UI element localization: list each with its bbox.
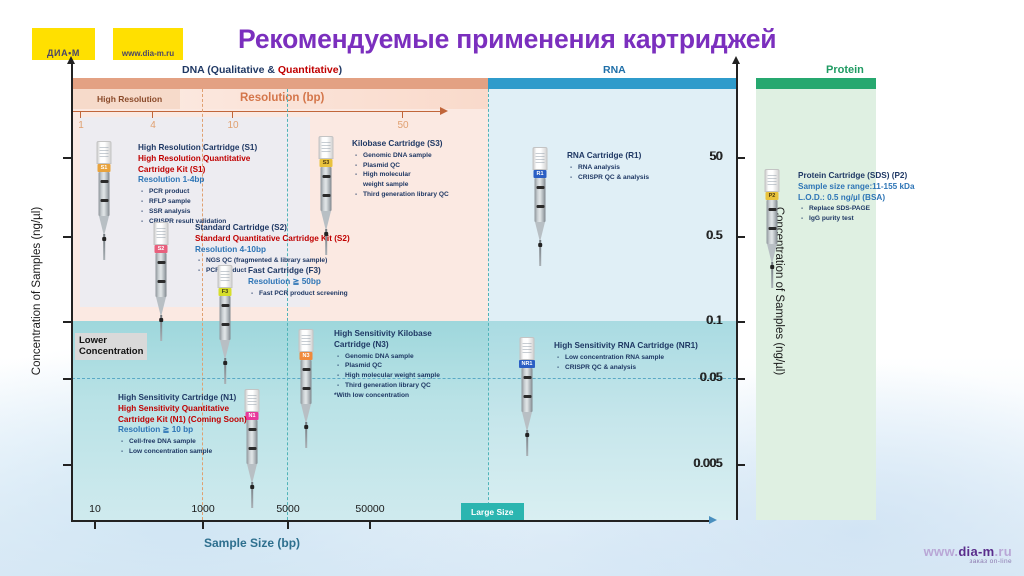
cartridge-needle	[325, 229, 327, 255]
section-label-rna: RNA	[603, 64, 626, 76]
s1-title: High Resolution Cartridge (S1)	[138, 143, 257, 154]
f3-title: Fast Cartridge (F3)	[248, 266, 348, 277]
cartridge-tip	[301, 404, 311, 424]
annotation-nr1: High Sensitivity RNA Cartridge (NR1) Low…	[554, 341, 698, 372]
logo-diam-text: ДИА•М	[32, 48, 95, 58]
y-axis-right	[736, 63, 738, 520]
s3-title: Kilobase Cartridge (S3)	[352, 139, 449, 150]
cartridge-tip	[247, 464, 257, 484]
cartridge-badge: NR1	[519, 360, 535, 368]
plot-area: High Resolution Resolution (bp) 1 4 10 5…	[72, 89, 736, 520]
y-tick-label-right: 0.005	[694, 458, 723, 470]
resolution-tick-label: 10	[227, 120, 238, 131]
annotation-f3: Fast Cartridge (F3) Resolution ≧ 50bp Fa…	[248, 266, 348, 298]
x-tick-label: 1000	[191, 503, 214, 515]
y-tick	[63, 321, 72, 323]
cartridge-cap-icon	[319, 136, 334, 159]
y-axis-right-arrow	[732, 56, 740, 64]
resolution-tick-label: 50	[397, 120, 408, 131]
y-tick	[63, 236, 72, 238]
large-size-badge: Large Size	[461, 503, 524, 520]
resolution-axis-arrow	[440, 107, 448, 115]
y-tick-right	[736, 157, 745, 159]
cartridge-cap-icon	[520, 337, 535, 360]
list-item: High molecular weight sample	[334, 371, 440, 381]
n3-bullets: Genomic DNA sample Plasmid QC High molec…	[334, 352, 440, 391]
logo-website-text: www.dia-m.ru	[113, 49, 183, 58]
resolution-tick	[152, 111, 153, 118]
cartridge-badge: F3	[219, 288, 232, 296]
y-axis-title-right: Concentration of Samples (ng/µl)	[773, 76, 785, 506]
y-tick	[63, 157, 72, 159]
cartridge-body	[522, 368, 533, 412]
list-item: PCR product	[138, 187, 257, 197]
p2-title: Protein Cartridge (SDS) (P2)	[798, 171, 915, 182]
n3-note: *With low concentration	[334, 392, 440, 399]
section-label-dna: DNA (Qualitative & Quantitative)	[182, 64, 342, 76]
y-tick-right	[736, 464, 745, 466]
annotation-p2: Protein Cartridge (SDS) (P2) Sample size…	[798, 171, 915, 224]
list-item: Low concentration sample	[118, 447, 247, 457]
resolution-tick-label: 1	[78, 120, 84, 131]
y-tick-label-right: 0.1	[707, 315, 723, 327]
s1-resolution: Resolution 1-4bp	[138, 175, 257, 186]
y-tick	[63, 464, 72, 466]
cartridge-badge: S1	[98, 164, 111, 172]
cartridge-cap-icon	[154, 222, 169, 245]
resolution-axis-line	[72, 111, 442, 112]
list-item: SSR analysis	[138, 207, 257, 217]
logo-diam: ДИА•М	[32, 28, 95, 60]
s1-kit-line2: Cartridge Kit (S1)	[138, 165, 257, 176]
cartridge-body	[247, 420, 258, 464]
y-axis-left	[71, 63, 73, 520]
cartridge-cap-icon	[245, 389, 260, 412]
y-tick-label-right: 0.05	[701, 372, 723, 384]
r1-title: RNA Cartridge (R1)	[567, 151, 649, 162]
resolution-tick	[232, 111, 233, 118]
list-item: Plasmid QC	[334, 361, 440, 371]
cartridge-body	[301, 360, 312, 404]
watermark-url: www.dia-m.ru	[924, 545, 1012, 559]
y-tick	[63, 378, 72, 380]
cartridge-needle	[771, 262, 773, 288]
list-item: Plasmid QC	[352, 161, 449, 171]
watermark-sub: заказ on-line	[924, 559, 1012, 566]
cartridge-tip	[220, 340, 230, 360]
list-item: Low concentration RNA sample	[554, 353, 698, 363]
s1-kit-line1: High Resolution Quantitative	[138, 154, 257, 165]
x-axis	[71, 520, 711, 522]
cartridge-cap-icon	[765, 169, 780, 192]
n3-title-line1: High Sensitivity Kilobase	[334, 329, 440, 340]
cartridge-body	[535, 178, 546, 222]
list-item: Genomic DNA sample	[334, 352, 440, 362]
lower-conc-line2: Concentration	[79, 346, 143, 357]
watermark: www.dia-m.ru заказ on-line	[924, 545, 1012, 566]
cartridge-tip	[535, 222, 545, 242]
cartridge-tip	[522, 412, 532, 432]
list-item: High molecular weight sample	[352, 170, 424, 190]
resolution-tick	[80, 111, 81, 118]
lower-concentration-badge: Lower Concentration	[75, 333, 147, 360]
nr1-bullets: Low concentration RNA sample CRISPR QC &…	[554, 353, 698, 373]
cartridge-needle	[305, 422, 307, 448]
cartridge-needle	[526, 430, 528, 456]
p2-spec-line2: L.O.D.: 0.5 ng/µl (BSA)	[798, 193, 915, 204]
list-item: Cell-free DNA sample	[118, 437, 247, 447]
n3-title-line2: Cartridge (N3)	[334, 340, 440, 351]
list-item: CRISPR QC & analysis	[567, 173, 649, 183]
cartridge-tip	[156, 297, 166, 317]
cartridge-cap-icon	[218, 265, 233, 288]
cartridge-needle	[224, 358, 226, 384]
list-item: Replace SDS-PAGE	[798, 204, 915, 214]
x-tick-label: 10	[89, 503, 101, 515]
n1-resolution: Resolution ≧ 10 bp	[118, 425, 247, 436]
list-item: Third generation library QC	[352, 190, 449, 200]
y-axis-title-left: Concentration of Samples (ng/µl)	[31, 76, 43, 506]
n1-kit-line2: Cartridge Kit (N1) (Coming Soon)	[118, 415, 247, 426]
list-item: CRISPR QC & analysis	[554, 363, 698, 373]
lower-conc-line1: Lower	[79, 335, 143, 346]
x-axis-title: Sample Size (bp)	[204, 536, 300, 550]
r1-bullets: RNA analysis CRISPR QC & analysis	[567, 163, 649, 183]
cartridge-needle	[103, 234, 105, 260]
x-tick	[287, 520, 289, 529]
cartridge-body	[156, 253, 167, 297]
list-item: IgG purity test	[798, 214, 915, 224]
cartridge-badge: P2	[766, 192, 779, 200]
x-tick	[202, 520, 204, 529]
y-tick-right	[736, 236, 745, 238]
x-tick	[369, 520, 371, 529]
s1-bullets: PCR product RFLP sample SSR analysis CRI…	[138, 187, 257, 226]
list-item: Third generation library QC	[334, 381, 440, 391]
f3-resolution: Resolution ≧ 50bp	[248, 277, 348, 288]
cartridge-needle	[539, 240, 541, 266]
cartridge-badge: S2	[155, 245, 168, 253]
list-item: RNA analysis	[567, 163, 649, 173]
s3-bullets: Genomic DNA sample Plasmid QC High molec…	[352, 151, 449, 200]
f3-bullets: Fast PCR product screening	[248, 289, 348, 299]
cartridge-badge: S3	[320, 159, 333, 167]
gridline-vertical	[488, 89, 489, 520]
cartridge-badge: N3	[300, 352, 313, 360]
list-item: Genomic DNA sample	[352, 151, 449, 161]
cartridge-cap-icon	[97, 141, 112, 164]
n1-title: High Sensitivity Cartridge (N1)	[118, 393, 247, 404]
section-bar-rna	[488, 78, 736, 89]
x-tick-label: 50000	[355, 503, 384, 515]
cartridge-body	[767, 200, 778, 244]
nr1-title: High Sensitivity RNA Cartridge (NR1)	[554, 341, 698, 352]
cartridge-tip	[321, 211, 331, 231]
cartridge-body	[99, 172, 110, 216]
list-item: Fast PCR product screening	[248, 289, 348, 299]
cartridge-body	[321, 167, 332, 211]
y-axis-left-arrow	[67, 56, 75, 64]
high-resolution-label: High Resolution	[97, 94, 162, 104]
gridline-vertical	[287, 89, 288, 520]
annotation-r1: RNA Cartridge (R1) RNA analysis CRISPR Q…	[567, 151, 649, 182]
cartridge-badge: N1	[246, 412, 259, 420]
resolution-axis-title: Resolution (bp)	[240, 92, 324, 104]
slide-canvas: ДИА•М www.dia-m.ru Рекомендуемые примене…	[0, 0, 1024, 576]
cartridge-tip	[767, 244, 777, 264]
y-tick-right	[736, 378, 745, 380]
x-tick-label: 5000	[276, 503, 299, 515]
annotation-n3: High Sensitivity Kilobase Cartridge (N3)…	[334, 329, 440, 399]
cartridge-tip	[99, 216, 109, 236]
annotation-n1: High Sensitivity Cartridge (N1) High Sen…	[118, 393, 247, 457]
y-tick-label-right: 50	[710, 151, 723, 163]
section-label-protein: Protein	[826, 64, 864, 76]
x-axis-arrow	[709, 516, 717, 524]
cartridge-cap-icon	[533, 147, 548, 170]
cartridge-cap-icon	[299, 329, 314, 352]
cartridge-needle	[160, 315, 162, 341]
n1-bullets: Cell-free DNA sample Low concentration s…	[118, 437, 247, 457]
y-tick-right	[736, 321, 745, 323]
y-tick-label-right: 0.5	[707, 230, 723, 242]
resolution-tick	[402, 111, 403, 118]
cartridge-badge: R1	[534, 170, 547, 178]
quadrant-upper-right	[488, 89, 736, 321]
watermark-domain: dia-m	[958, 544, 994, 559]
n1-kit-line1: High Sensitivity Quantitative	[118, 404, 247, 415]
cartridge-body	[220, 296, 231, 340]
page-title: Рекомендуемые применения картриджей	[238, 24, 776, 55]
p2-bullets: Replace SDS-PAGE IgG purity test	[798, 204, 915, 224]
logo-website: www.dia-m.ru	[113, 28, 183, 60]
cartridge-needle	[251, 482, 253, 508]
annotation-s1: High Resolution Cartridge (S1) High Reso…	[138, 143, 257, 226]
x-tick	[94, 520, 96, 529]
list-item: RFLP sample	[138, 197, 257, 207]
annotation-s3: Kilobase Cartridge (S3) Genomic DNA samp…	[352, 139, 449, 200]
p2-spec-line1: Sample size range:11-155 kDa	[798, 182, 915, 193]
section-bar-dna	[72, 78, 488, 89]
resolution-tick-label: 4	[150, 120, 156, 131]
